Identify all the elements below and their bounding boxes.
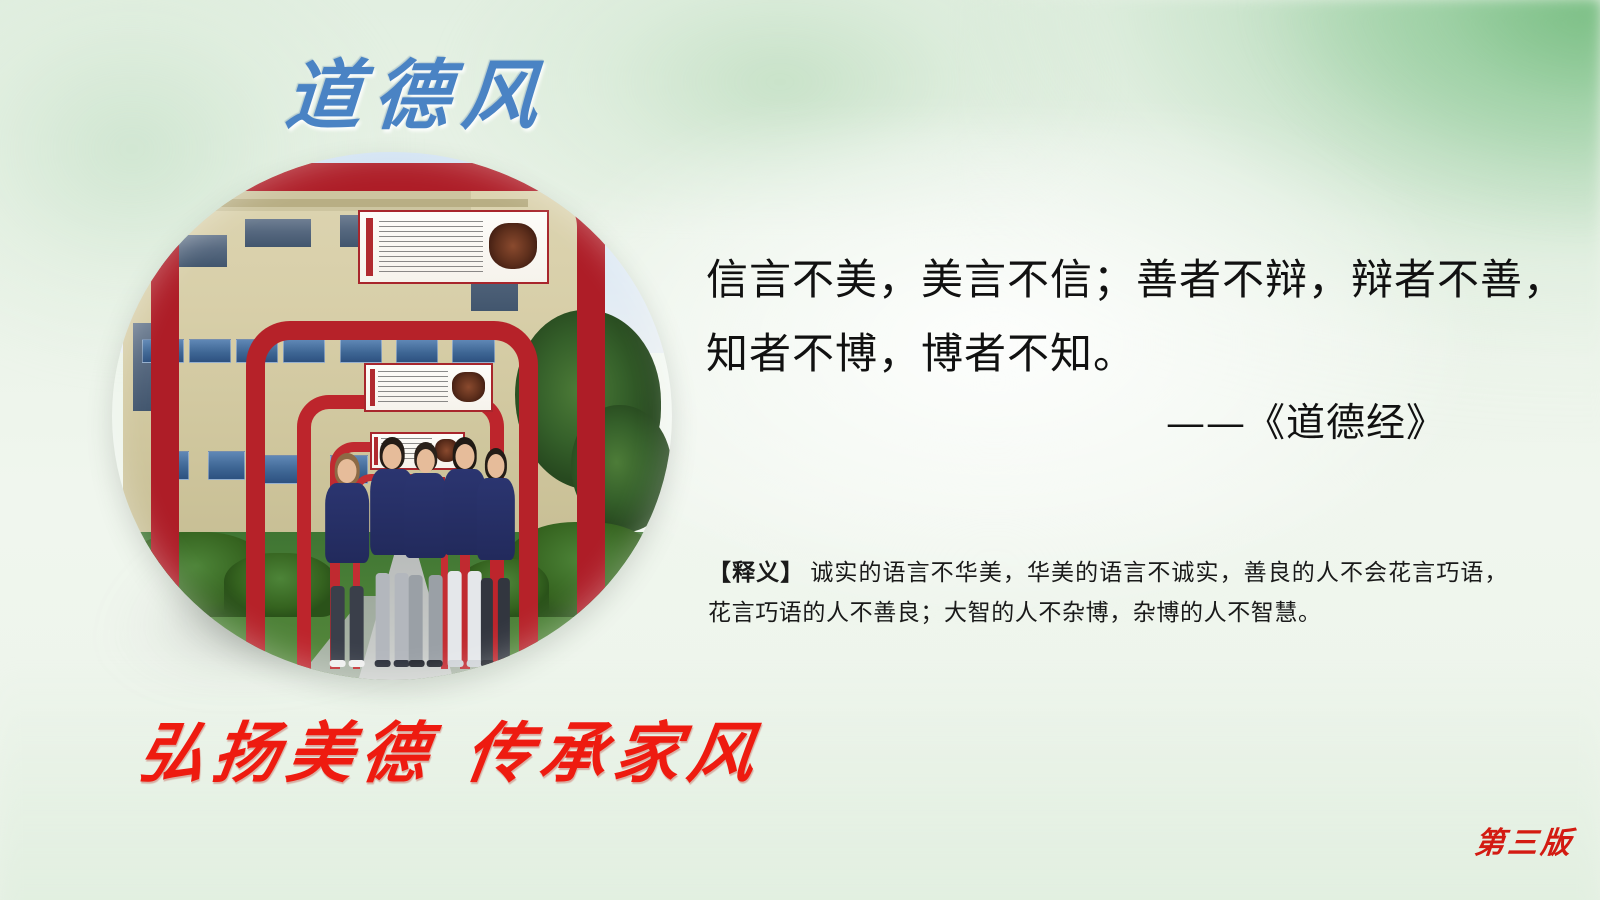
photo-student-leg [448, 571, 462, 664]
slide-canvas: 道德风 [0, 0, 1600, 900]
photo-student-leg [498, 578, 510, 665]
photo-student-leg [350, 586, 364, 664]
photo-scene [112, 152, 672, 680]
slogan-text: 弘扬美德 传承家风 [133, 700, 769, 796]
photo-student-shoe [408, 660, 424, 667]
photo-student-shoe [349, 660, 365, 667]
explanation-tag: 【释义】 [708, 559, 804, 586]
photo-student-legs [330, 559, 365, 665]
photo-student-shoe [375, 660, 391, 667]
photo-board-accent [366, 218, 373, 277]
photo-student-leg [481, 578, 493, 665]
explanation-text: 诚实的语言不华美，华美的语言不诚实，善良的人不会花言巧语，花言巧语的人不善良；大… [708, 560, 1508, 626]
photo-board-illustration [489, 223, 537, 269]
photo-board-text [379, 221, 483, 273]
photo-student-legs [480, 556, 510, 664]
photo-board-accent [370, 369, 375, 406]
photo-student-shoe [330, 660, 346, 667]
edition-label: 第三版 [1473, 818, 1577, 862]
photo-board-illustration [452, 372, 484, 401]
photo-student-head [487, 454, 504, 478]
quote-line-2: 知者不博，博者不知。 [706, 317, 1506, 391]
photo-student-shirt [325, 483, 369, 563]
photo-student-leg [409, 575, 423, 664]
quote-text: 信言不美，美言不信；善者不辩，辩者不善， 知者不博，博者不知。 [706, 243, 1506, 391]
photo-student-leg [331, 586, 345, 664]
photo-board-text [378, 371, 448, 404]
photo-display-board [364, 363, 493, 412]
explanation-block: 【释义】诚实的语言不华美，华美的语言不诚实，善良的人不会花言巧语，花言巧语的人不… [708, 553, 1508, 633]
quote-attribution: ——《道德经》 [706, 392, 1446, 448]
page-title: 道德风 [282, 34, 554, 144]
circular-photo [112, 152, 672, 680]
photo-student-shirt [476, 478, 514, 560]
photo-student-shoe [480, 660, 494, 667]
quote-line-1: 信言不美，美言不信；善者不辩，辩者不善， [706, 243, 1506, 317]
photo-student-shoe [497, 660, 511, 667]
photo-student-shoe [447, 660, 463, 667]
photo-student-leg [375, 573, 389, 664]
photo-student [470, 448, 520, 664]
photo-display-board [358, 210, 548, 284]
